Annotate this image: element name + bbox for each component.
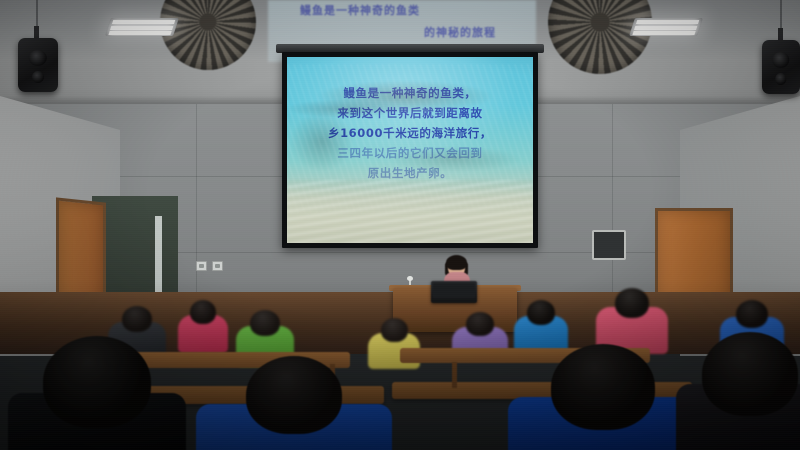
podium-laptop[interactable] [431,281,477,303]
ceiling-light-fixture [105,18,179,36]
wall-outlet[interactable] [212,261,223,271]
wall-outlet[interactable] [196,261,207,271]
attendee-head [551,344,655,430]
spill-text-right: 的神秘的旅程 [424,24,496,40]
attendee-head [250,310,280,336]
attendee-head [190,300,216,324]
attendee-head [702,332,798,416]
screen-surface: 鳗鱼是一种神奇的鱼类， 来到这个世界后就到距离故 乡16000千米远的海洋旅行，… [287,57,533,243]
attendee-head [122,306,152,332]
attendee-head [736,300,768,328]
foreground-attendee [676,332,800,450]
slide-text-block: 鳗鱼是一种神奇的鱼类， 来到这个世界后就到距离故 乡16000千米远的海洋旅行，… [294,83,526,183]
bench-leg [452,362,457,388]
wall-vent-panel [592,230,626,260]
lecture-hall-photo: 鳗鱼是一种神奇的鱼类 的神秘的旅程 鳗鱼是一种神奇的鱼类， 来到这个世界后就到距… [0,0,800,450]
foreground-attendee [8,336,186,450]
slide-line: 来到这个世界后就到距离故 [294,103,526,123]
slide-line: 原出生地产卵。 [294,163,526,183]
ceiling-speaker-left [18,38,58,92]
attendee-head [43,336,151,428]
attendee-head [615,288,649,318]
attendee-head [246,356,342,434]
presenter-hair [446,255,467,270]
attendee-head [527,300,555,325]
projection-screen[interactable]: 鳗鱼是一种神奇的鱼类， 来到这个世界后就到距离故 乡16000千米远的海洋旅行，… [282,52,538,248]
ceiling-light-fixture [629,18,703,36]
attendee-head [466,312,494,336]
foreground-attendee [508,344,698,450]
ceiling-speaker-right [762,40,800,94]
attendee [596,288,668,350]
slide-line: 乡16000千米远的海洋旅行， [294,123,526,143]
slide-line: 三四年以后的它们又会回到 [294,143,526,163]
slide-photo-seabed [287,180,533,243]
attendee [514,300,568,350]
foreground-attendee [196,356,392,450]
attendee-head [381,318,408,342]
spill-text-top: 鳗鱼是一种神奇的鱼类 [300,2,420,18]
slide-line: 鳗鱼是一种神奇的鱼类， [294,83,526,103]
